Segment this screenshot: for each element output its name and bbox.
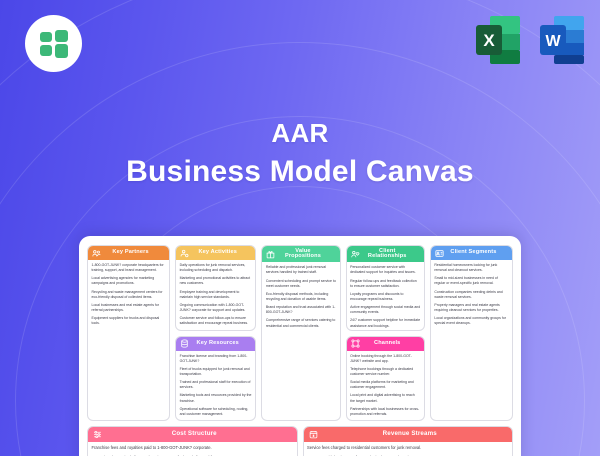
- block-item: Small to mid-sized businesses in need of…: [434, 276, 508, 286]
- block-body: Personalized customer service with dedic…: [347, 262, 424, 329]
- network-nodes-icon: [351, 339, 360, 348]
- block-body: Franchise fees and royalties paid to 1-8…: [88, 442, 297, 456]
- word-icon[interactable]: W: [536, 12, 592, 68]
- block-item: Convenient scheduling and prompt service…: [266, 279, 336, 289]
- block-item: Telephone bookings through a dedicated c…: [350, 367, 420, 377]
- block-item: Loyalty programs and discounts to encour…: [350, 292, 420, 302]
- block-item: Online booking through the 1-800-GOT-JUN…: [350, 354, 420, 364]
- block-item: Local advertising agencies for marketing…: [92, 276, 166, 286]
- block-title: Value Propositions: [278, 249, 335, 260]
- block-item: Trained and professional staff for execu…: [180, 380, 252, 390]
- block-item: Eco-friendly disposal methods, including…: [266, 292, 336, 302]
- block-title: Key Partners: [104, 250, 165, 256]
- canvas-block-key-activities[interactable]: Key Activities Daily operations for junk…: [175, 245, 256, 331]
- block-header: Revenue Streams: [304, 427, 513, 442]
- block-header: Client Relationships: [347, 246, 424, 262]
- block-item: Ongoing communication with 1-800-GOT-JUN…: [180, 303, 252, 313]
- block-title: Key Activities: [192, 250, 251, 256]
- block-item: Marketing and promotional activities to …: [180, 276, 252, 286]
- block-item: Service fees charged to residential cust…: [307, 445, 509, 451]
- grid-squares-logo-icon: [40, 30, 68, 58]
- canvas-block-key-resources[interactable]: Key Resources Franchise license and bran…: [175, 336, 256, 422]
- canvas-bottom-grid: Cost Structure Franchise fees and royalt…: [87, 426, 513, 456]
- svg-text:W: W: [545, 33, 561, 50]
- block-header: Channels: [347, 337, 424, 351]
- block-body: Service fees charged to residential cust…: [304, 442, 513, 456]
- canvas-block-client-relationships[interactable]: Client Relationships Personalized custom…: [346, 245, 425, 331]
- canvas-top-grid: Key Partners 1-800-GOT-JUNK? corporate h…: [87, 245, 513, 421]
- block-body: 1-800-GOT-JUNK? corporate headquarters f…: [88, 260, 169, 420]
- sliders-icon: [93, 430, 102, 439]
- title-subtitle: Business Model Canvas: [0, 155, 600, 189]
- canvas-block-cost-structure[interactable]: Cost Structure Franchise fees and royalt…: [87, 426, 298, 456]
- canvas-block-revenue-streams[interactable]: Revenue Streams Service fees charged to …: [303, 426, 514, 456]
- block-body: Daily operations for junk removal servic…: [176, 260, 255, 330]
- block-title: Client Segments: [447, 250, 508, 256]
- block-item: Social media platforms for marketing and…: [350, 380, 420, 390]
- canvas-block-client-segments[interactable]: Client Segments Residential homeowners l…: [430, 245, 513, 421]
- block-item: Franchise license and branding from 1-80…: [180, 354, 252, 364]
- app-logo[interactable]: [25, 15, 82, 72]
- block-item: Local businesses and real estate agents …: [92, 303, 166, 313]
- svg-text:X: X: [483, 31, 495, 50]
- block-body: Online booking through the 1-800-GOT-JUN…: [347, 351, 424, 421]
- block-title: Cost Structure: [105, 431, 292, 437]
- block-title: Key Resources: [192, 341, 251, 347]
- block-item: Regular follow-ups and feedback collecti…: [350, 279, 420, 289]
- block-item: Residential homeowners looking for junk …: [434, 263, 508, 273]
- people-heart-icon: [351, 250, 360, 259]
- block-item: Reliable and professional junk removal s…: [266, 265, 336, 275]
- person-gear-icon: [180, 249, 189, 258]
- business-model-canvas: Key Partners 1-800-GOT-JUNK? corporate h…: [79, 236, 521, 456]
- block-item: Employee training and development to mai…: [180, 290, 252, 300]
- block-header: Key Activities: [176, 246, 255, 260]
- block-item: Local print and digital advertising to r…: [350, 393, 420, 403]
- title-main: AAR: [0, 118, 600, 149]
- block-item: Equipment suppliers for trucks and dispo…: [92, 316, 166, 326]
- block-item: 1-800-GOT-JUNK? corporate headquarters f…: [92, 263, 166, 273]
- block-title: Channels: [363, 341, 420, 347]
- excel-icon[interactable]: X: [472, 12, 528, 68]
- canvas-column-1: Key Partners 1-800-GOT-JUNK? corporate h…: [87, 245, 170, 421]
- block-item: Fleet of trucks equipped for junk remova…: [180, 367, 252, 377]
- canvas-block-value-propositions[interactable]: Value Propositions Reliable and professi…: [261, 245, 340, 421]
- block-body: Franchise license and branding from 1-80…: [176, 351, 255, 421]
- block-item: Construction companies needing debris an…: [434, 290, 508, 300]
- block-item: Franchise fees and royalties paid to 1-8…: [92, 445, 294, 451]
- id-card-icon: [435, 249, 444, 258]
- calendar-cash-icon: [309, 430, 318, 439]
- block-item: Property managers and real estate agents…: [434, 303, 508, 313]
- block-item: Marketing tools and resources provided b…: [180, 393, 252, 403]
- block-item: Personalized customer service with dedic…: [350, 265, 420, 275]
- database-icon: [180, 339, 189, 348]
- block-item: Daily operations for junk removal servic…: [180, 263, 252, 273]
- block-title: Revenue Streams: [321, 431, 508, 437]
- canvas-column-2: Key Activities Daily operations for junk…: [175, 245, 256, 421]
- block-item: Recycling and waste management centers f…: [92, 290, 166, 300]
- canvas-block-channels[interactable]: Channels Online booking through the 1-80…: [346, 336, 425, 422]
- page-title: AAR Business Model Canvas: [0, 118, 600, 189]
- block-item: 24/7 customer support helpline for immed…: [350, 318, 420, 328]
- block-header: Key Resources: [176, 337, 255, 351]
- canvas-column-5: Client Segments Residential homeowners l…: [430, 245, 513, 421]
- block-item: Brand reputation and trust associated wi…: [266, 305, 336, 315]
- canvas-column-3: Value Propositions Reliable and professi…: [261, 245, 340, 421]
- block-item: Active engagement through social media a…: [350, 305, 420, 315]
- block-body: Reliable and professional junk removal s…: [262, 262, 339, 420]
- block-header: Client Segments: [431, 246, 512, 260]
- block-header: Key Partners: [88, 246, 169, 260]
- block-item: Comprehensive range of services catering…: [266, 318, 336, 328]
- block-item: Customer service and follow-ups to ensur…: [180, 316, 252, 326]
- gift-icon: [266, 250, 275, 259]
- canvas-block-key-partners[interactable]: Key Partners 1-800-GOT-JUNK? corporate h…: [87, 245, 170, 421]
- block-item: Operational software for scheduling, rou…: [180, 407, 252, 417]
- block-header: Cost Structure: [88, 427, 297, 442]
- block-header: Value Propositions: [262, 246, 339, 262]
- block-title: Client Relationships: [363, 249, 420, 260]
- block-item: Local organizations and community groups…: [434, 316, 508, 326]
- canvas-column-4: Client Relationships Personalized custom…: [346, 245, 425, 421]
- handshake-icon: [92, 249, 101, 258]
- block-body: Residential homeowners looking for junk …: [431, 260, 512, 420]
- block-item: Partnerships with local businesses for c…: [350, 407, 420, 417]
